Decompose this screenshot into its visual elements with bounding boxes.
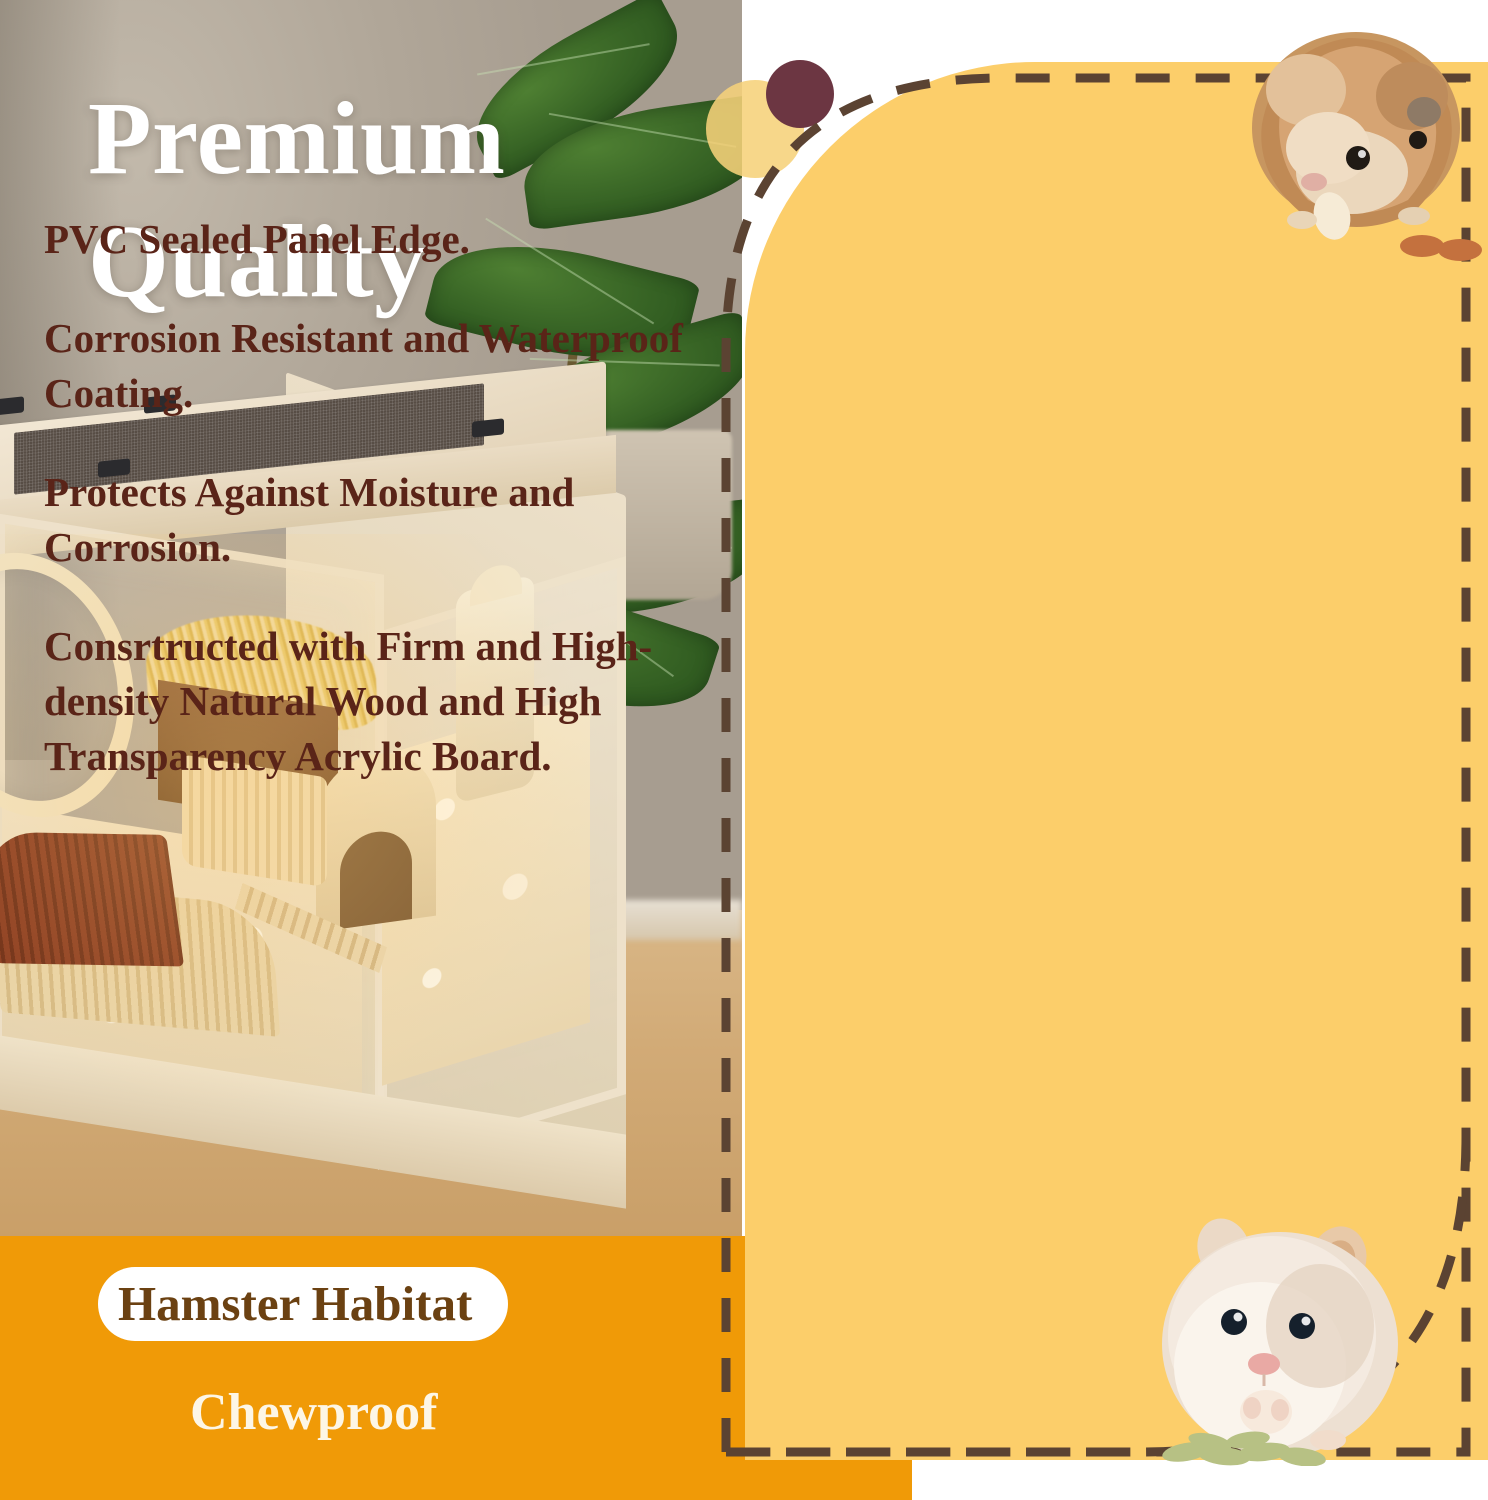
cage-hinge — [0, 396, 24, 415]
banner-subtitle: Chewproof — [190, 1382, 437, 1444]
feature-list: PVC Sealed Panel Edge. Corrosion Resista… — [44, 212, 716, 784]
title-line-1: Premium — [88, 78, 688, 201]
maroon-accent-circle — [766, 60, 834, 128]
wooden-fence-dark — [0, 832, 184, 967]
product-name-label: Hamster Habitat — [118, 1272, 678, 1336]
feature-item: Protects Against Moisture and Corrosion. — [44, 465, 716, 575]
hamster-top-right-icon — [1236, 16, 1484, 264]
feature-item: Corrosion Resistant and Waterproof Coati… — [44, 311, 716, 421]
hamster-bottom-right-icon — [1152, 1216, 1412, 1466]
feature-item: Consrtructed with Firm and High-density … — [44, 619, 716, 784]
infographic-canvas: Premium Quality PVC Sealed Panel Edge. C… — [0, 0, 1488, 1500]
feature-item: PVC Sealed Panel Edge. — [44, 212, 716, 267]
